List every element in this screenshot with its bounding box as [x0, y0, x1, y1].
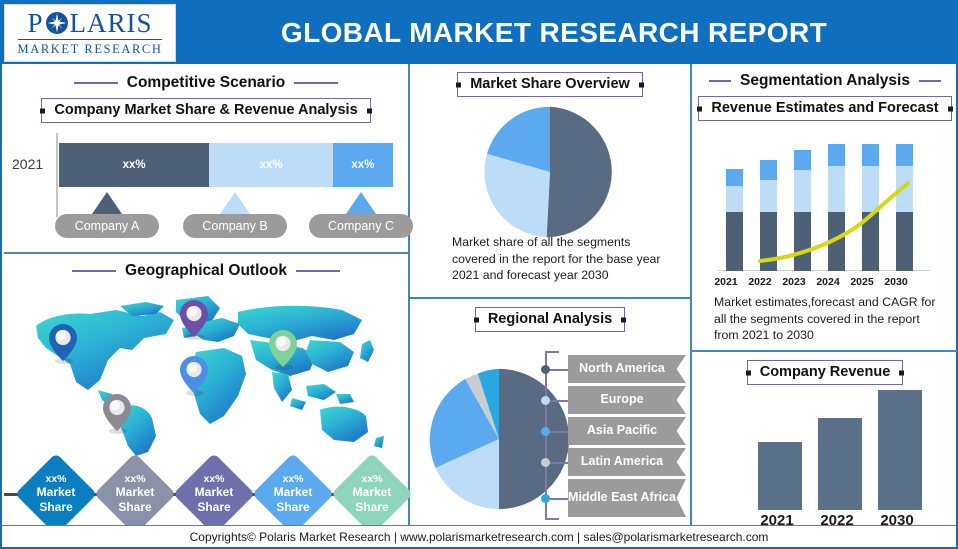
segment-1 — [896, 212, 913, 271]
competitive-company-b-pill[interactable]: Company B — [183, 214, 287, 238]
segmentation-year-2025: 2025 — [846, 276, 878, 288]
segment-2 — [896, 166, 913, 212]
company-revenue-subtitle-wrap: Company Revenue — [692, 360, 958, 385]
north-america-pin[interactable] — [48, 322, 78, 364]
badge-5-line1: Market — [337, 485, 407, 499]
competitive-pointer-c — [346, 192, 376, 214]
logo-subtitle: MARKET RESEARCH — [18, 42, 163, 57]
competitive-segment-a-label: xx% — [123, 159, 146, 171]
regional-line-latin-america — [550, 462, 568, 464]
segmentation-subtitle: Revenue Estimates and Forecast — [698, 96, 951, 121]
company-revenue-plot-area — [752, 390, 932, 510]
logo-wordmark: P LARIS — [27, 10, 152, 37]
competitive-axis — [56, 133, 58, 217]
segment-3 — [862, 144, 879, 166]
competitive-pointer-a — [92, 192, 122, 214]
market-share-subtitle: Market Share Overview — [457, 72, 643, 97]
report-infographic: P LARIS MARKET RESEARCH GLOBAL MARKET RE… — [0, 0, 958, 549]
segment-2 — [828, 166, 845, 212]
polaris-logo: P LARIS MARKET RESEARCH — [4, 4, 176, 62]
segmentation-caption: Market estimates,forecast and CAGR for a… — [714, 294, 946, 344]
badge-4-text: xx% Market Share — [258, 473, 328, 514]
badge-2-text: xx% Market Share — [100, 473, 170, 514]
badge-5-line2: Share — [337, 500, 407, 514]
badge-3-text: xx% Market Share — [179, 473, 249, 514]
geographical-outlook-panel: Geographical Outlook — [4, 254, 408, 529]
segment-1 — [726, 212, 743, 271]
regional-line-middle-east-africa — [550, 498, 568, 500]
logo-brand-post: LARIS — [70, 10, 153, 37]
segment-2 — [794, 170, 811, 212]
badge-5-pct: xx% — [337, 473, 407, 485]
regional-pie-chart[interactable] — [426, 366, 572, 512]
segmentation-bar-2021[interactable] — [726, 169, 743, 271]
segmentation-plot-area — [718, 126, 930, 271]
badge-1-text: xx% Market Share — [21, 473, 91, 514]
title-rule-left — [74, 82, 118, 84]
regional-subtitle: Regional Analysis — [475, 307, 625, 332]
regional-line-asia-pacific — [550, 431, 568, 433]
regional-label-north-america-text: North America — [579, 362, 665, 376]
regional-line-north-america — [550, 369, 568, 371]
title-rule-left — [709, 80, 731, 82]
regional-subtitle-wrap: Regional Analysis — [410, 307, 690, 332]
competitive-subtitle: Company Market Share & Revenue Analysis — [41, 98, 370, 123]
market-share-overview-panel: Market Share Overview Market share of al… — [410, 64, 690, 297]
badge-1-pct: xx% — [21, 473, 91, 485]
competitive-section-title-text: Competitive Scenario — [127, 74, 286, 92]
regional-label-middle-east-africa-text: Middle East Africa — [568, 491, 676, 505]
competitive-stacked-bar: xx% xx% xx% — [59, 143, 393, 187]
segmentation-bar-2022[interactable] — [760, 160, 777, 271]
geographical-section-title: Geographical Outlook — [4, 262, 408, 280]
segmentation-year-2023: 2023 — [778, 276, 810, 288]
badge-2-pct: xx% — [100, 473, 170, 485]
regional-dot-asia-pacific — [541, 427, 550, 436]
page-footer: Copyrights© Polaris Market Research | ww… — [2, 525, 956, 547]
segment-3 — [760, 160, 777, 180]
title-rule-right — [296, 270, 340, 272]
competitive-section-title: Competitive Scenario — [4, 74, 408, 92]
regional-label-latin-america-text: Latin America — [581, 455, 663, 469]
segment-3 — [794, 150, 811, 170]
competitive-segment-c[interactable]: xx% — [333, 143, 393, 187]
segment-1 — [862, 212, 879, 271]
segmentation-bar-2024[interactable] — [828, 144, 845, 271]
regional-label-asia-pacific[interactable]: Asia Pacific — [568, 417, 686, 445]
competitive-company-a-pill[interactable]: Company A — [55, 214, 159, 238]
logo-divider — [18, 39, 162, 40]
pie-slice-segment-1 — [547, 107, 612, 237]
regional-label-middle-east-africa[interactable]: Middle East Africa — [568, 479, 686, 517]
segmentation-subtitle-wrap: Revenue Estimates and Forecast — [692, 96, 958, 121]
market-share-pie-chart[interactable] — [482, 104, 618, 240]
segment-1 — [794, 212, 811, 271]
company-revenue-bar-2021[interactable] — [758, 442, 802, 510]
badge-5-text: xx% Market Share — [337, 473, 407, 514]
market-share-caption: Market share of all the segments covered… — [452, 234, 662, 284]
east-asia-pin[interactable] — [268, 328, 298, 370]
regional-dot-europe — [541, 396, 550, 405]
regional-label-north-america[interactable]: North America — [568, 355, 686, 383]
footer-copyright-text: Copyrights© Polaris Market Research | ww… — [190, 530, 769, 544]
title-rule-right — [919, 80, 941, 82]
badge-1-line2: Share — [21, 500, 91, 514]
segmentation-year-2021: 2021 — [710, 276, 742, 288]
competitive-company-a-label: Company A — [75, 219, 140, 233]
regional-line-europe — [550, 400, 568, 402]
badge-3-line2: Share — [179, 500, 249, 514]
page-title: GLOBAL MARKET RESEARCH REPORT — [176, 17, 956, 49]
segment-1 — [828, 212, 845, 271]
segmentation-bar-2025[interactable] — [862, 144, 879, 271]
company-revenue-panel: Company Revenue 2021 2022 2030 — [692, 352, 958, 529]
competitive-scenario-panel: Competitive Scenario Company Market Shar… — [4, 64, 408, 252]
pie-slice-north-america — [499, 369, 569, 509]
competitive-company-c-pill[interactable]: Company C — [309, 214, 413, 238]
compass-star-icon — [45, 11, 69, 35]
badge-2-line2: Share — [100, 500, 170, 514]
title-rule-right — [294, 82, 338, 84]
segmentation-year-2024: 2024 — [812, 276, 844, 288]
segment-2 — [726, 186, 743, 212]
regional-label-europe-text: Europe — [600, 393, 643, 407]
regional-dot-north-america — [541, 365, 550, 374]
europe-pin[interactable] — [179, 298, 209, 340]
badge-5[interactable]: xx% Market Share — [342, 464, 402, 524]
competitive-segment-b-label: xx% — [260, 159, 283, 171]
badge-4-pct: xx% — [258, 473, 328, 485]
regional-label-europe[interactable]: Europe — [568, 386, 686, 414]
title-rule-left — [72, 270, 116, 272]
segmentation-bar-2023[interactable] — [794, 150, 811, 271]
segment-3 — [828, 144, 845, 166]
competitive-segment-c-label: xx% — [351, 159, 374, 171]
segmentation-section-title-text: Segmentation Analysis — [740, 72, 910, 90]
logo-brand-pre: P — [27, 10, 43, 37]
segmentation-analysis-panel: Segmentation Analysis Revenue Estimates … — [692, 64, 958, 350]
segment-3 — [896, 144, 913, 166]
segment-3 — [726, 169, 743, 186]
competitive-company-b-label: Company B — [202, 219, 267, 233]
segment-2 — [862, 166, 879, 212]
regional-label-asia-pacific-text: Asia Pacific — [587, 424, 657, 438]
regional-analysis-panel: Regional Analysis — [410, 299, 690, 529]
market-share-subtitle-wrap: Market Share Overview — [410, 72, 690, 97]
competitive-subtitle-wrap: Company Market Share & Revenue Analysis — [4, 98, 408, 123]
geographical-section-title-text: Geographical Outlook — [125, 262, 287, 280]
badge-4[interactable]: xx% Market Share — [263, 464, 323, 524]
segmentation-section-title: Segmentation Analysis — [692, 72, 958, 90]
south-america-pin[interactable] — [102, 392, 132, 434]
competitive-segment-b[interactable]: xx% — [209, 143, 333, 187]
segmentation-year-2022: 2022 — [744, 276, 776, 288]
badge-1-line1: Market — [21, 485, 91, 499]
badge-3-pct: xx% — [179, 473, 249, 485]
badge-4-line2: Share — [258, 500, 328, 514]
regional-spine-top-cap — [545, 351, 559, 353]
world-map — [24, 290, 394, 458]
competitive-pointer-b — [220, 192, 250, 214]
regional-dot-middle-east-africa — [541, 494, 550, 503]
regional-spine-bottom-cap — [545, 518, 559, 520]
badge-3[interactable]: xx% Market Share — [184, 464, 244, 524]
badge-2[interactable]: xx% Market Share — [105, 464, 165, 524]
regional-label-latin-america[interactable]: Latin America — [568, 448, 686, 476]
badge-2-line1: Market — [100, 485, 170, 499]
competitive-year-label: 2021 — [12, 156, 43, 172]
regional-dot-latin-america — [541, 458, 550, 467]
badge-1[interactable]: xx% Market Share — [26, 464, 86, 524]
company-revenue-subtitle: Company Revenue — [747, 360, 904, 385]
company-revenue-bar-2022[interactable] — [818, 418, 862, 510]
segment-2 — [760, 180, 777, 212]
middle-east-pin[interactable] — [179, 354, 209, 396]
competitive-company-c-label: Company C — [328, 219, 394, 233]
segmentation-bar-2030[interactable] — [896, 144, 913, 271]
company-revenue-bar-2030[interactable] — [878, 390, 922, 510]
badge-4-line1: Market — [258, 485, 328, 499]
competitive-segment-a[interactable]: xx% — [59, 143, 209, 187]
segmentation-year-2030: 2030 — [880, 276, 912, 288]
segment-1 — [760, 212, 777, 271]
badge-3-line1: Market — [179, 485, 249, 499]
page-header: P LARIS MARKET RESEARCH GLOBAL MARKET RE… — [2, 2, 956, 64]
